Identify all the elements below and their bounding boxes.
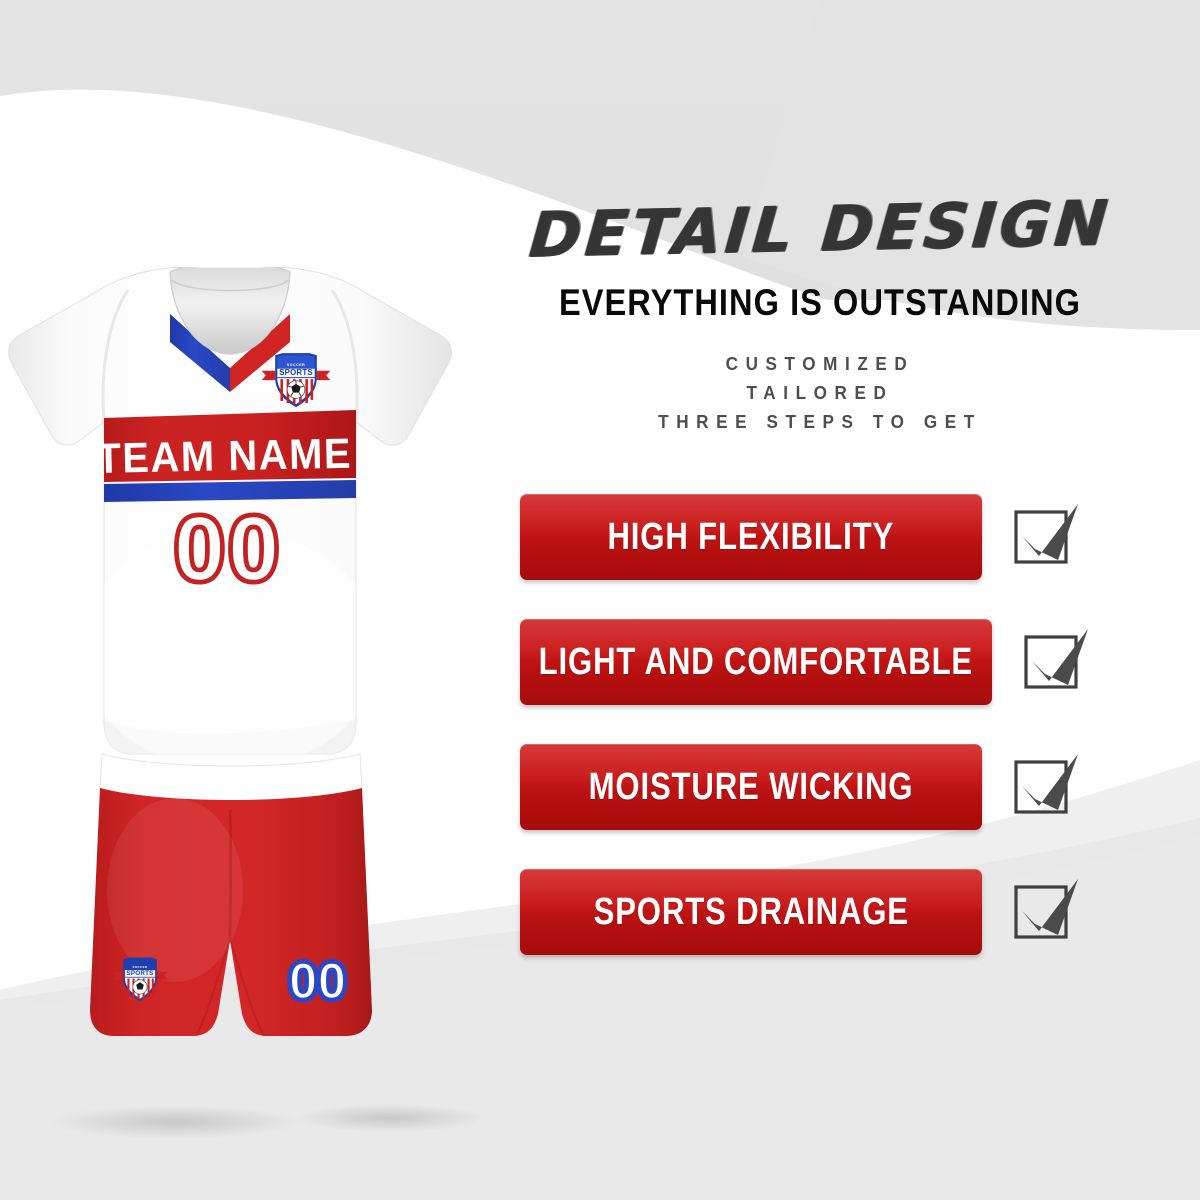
jersey-number: 00 00 00 bbox=[174, 498, 282, 600]
svg-text:SPORTS: SPORTS bbox=[126, 970, 153, 977]
jersey-team-name: TEAM NAME bbox=[96, 430, 353, 483]
feature-bar-light-and-comfortable[interactable]: LIGHT AND COMFORTABLE bbox=[520, 619, 992, 705]
kicker-lines: CUSTOMIZED TAILORED THREE STEPS TO GET bbox=[488, 350, 1153, 437]
page-subtitle: EVERYTHING IS OUTSTANDING bbox=[512, 282, 1128, 324]
feature-bar-high-flexibility[interactable]: HIGH FLEXIBILITY bbox=[520, 494, 982, 580]
shorts-number: 00 00 00 bbox=[289, 953, 347, 1009]
svg-text:SOCCER: SOCCER bbox=[132, 965, 148, 969]
checkbox-checked-icon[interactable] bbox=[1008, 494, 1086, 580]
jersey: TEAM NAME 00 00 00 bbox=[9, 263, 452, 770]
svg-text:00: 00 bbox=[289, 953, 347, 1009]
kicker-line-1: CUSTOMIZED bbox=[488, 350, 1153, 379]
kicker-line-3: THREE STEPS TO GET bbox=[488, 408, 1153, 437]
page-title: DETAIL DESIGN bbox=[467, 191, 1174, 268]
kicker-line-2: TAILORED bbox=[488, 379, 1153, 408]
feature-label: MOISTURE WICKING bbox=[589, 766, 914, 809]
svg-text:00: 00 bbox=[174, 498, 282, 600]
feature-label: HIGH FLEXIBILITY bbox=[608, 516, 895, 559]
checkbox-checked-icon[interactable] bbox=[1008, 744, 1086, 830]
shorts: SOCCER SPORTS 00 00 00 bbox=[90, 754, 372, 1036]
svg-text:SOCCER: SOCCER bbox=[287, 363, 306, 367]
feature-bar-moisture-wicking[interactable]: MOISTURE WICKING bbox=[520, 744, 982, 830]
feature-row: LIGHT AND COMFORTABLE bbox=[520, 612, 1140, 712]
feature-label: SPORTS DRAINAGE bbox=[593, 891, 908, 934]
feature-label: LIGHT AND COMFORTABLE bbox=[539, 641, 973, 684]
feature-bar-sports-drainage[interactable]: SPORTS DRAINAGE bbox=[520, 869, 982, 955]
checkbox-checked-icon[interactable] bbox=[1008, 869, 1086, 955]
feature-row: MOISTURE WICKING bbox=[520, 737, 1140, 837]
feature-row: SPORTS DRAINAGE bbox=[520, 862, 1140, 962]
feature-row: HIGH FLEXIBILITY bbox=[520, 487, 1140, 587]
poster-canvas: TEAM NAME 00 00 00 bbox=[0, 0, 1200, 1200]
feature-list: HIGH FLEXIBILITY LIGHT AND COMFORTABLE bbox=[520, 487, 1140, 962]
header-block: DETAIL DESIGN EVERYTHING IS OUTSTANDING … bbox=[470, 170, 1170, 437]
svg-text:SPORTS: SPORTS bbox=[279, 368, 313, 377]
checkbox-checked-icon[interactable] bbox=[1018, 619, 1096, 705]
uniform-illustration: TEAM NAME 00 00 00 bbox=[0, 250, 520, 1100]
